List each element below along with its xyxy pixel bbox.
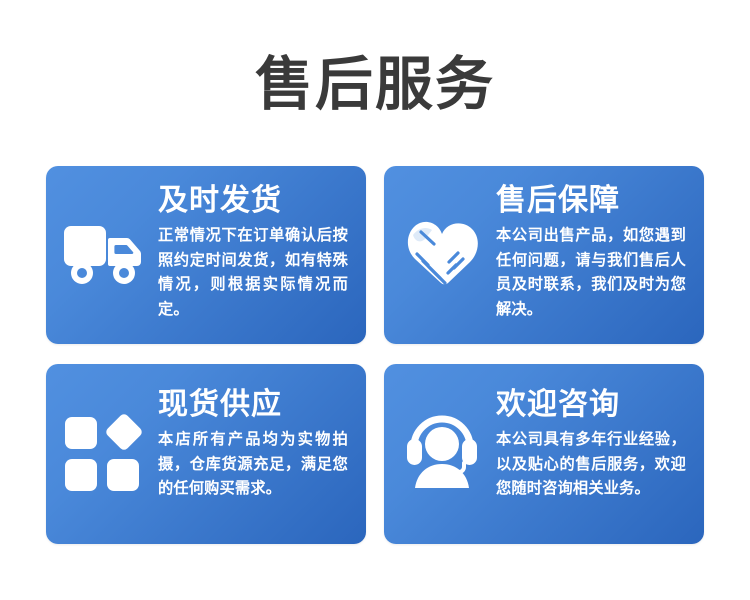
page-title: 售后服务: [0, 52, 750, 118]
card-title: 售后保障: [496, 182, 686, 220]
card-title: 及时发货: [158, 182, 348, 220]
service-card-after-sales-guarantee[interactable]: 售后保障 本公司出售产品，如您遇到任何问题，请与我们售后人员及时联系，我们及时为…: [384, 166, 704, 344]
card-description: 本店所有产品均为实物拍摄，仓库货源充足，满足您的任何购买需求。: [158, 428, 348, 502]
handshake-heart-icon: [401, 217, 483, 293]
card-icon-wrapper: [384, 166, 496, 344]
headset-support-icon: [402, 414, 482, 494]
service-card-timely-delivery[interactable]: 及时发货 正常情况下在订单确认后按照约定时间发货，如有特殊情况，则根据实际情况而…: [46, 166, 366, 344]
card-text-wrapper: 欢迎咨询 本公司具有多年行业经验，以及贴心的售后服务，欢迎您随时咨询相关业务。: [496, 364, 704, 502]
card-icon-wrapper: [46, 364, 158, 544]
card-title: 欢迎咨询: [496, 386, 686, 424]
card-text-wrapper: 售后保障 本公司出售产品，如您遇到任何问题，请与我们售后人员及时联系，我们及时为…: [496, 166, 704, 322]
card-description: 本公司出售产品，如您遇到任何问题，请与我们售后人员及时联系，我们及时为您解决。: [496, 224, 686, 322]
card-description: 本公司具有多年行业经验，以及贴心的售后服务，欢迎您随时咨询相关业务。: [496, 428, 686, 502]
delivery-truck-icon: [62, 220, 146, 290]
squares-diamond-icon: [64, 414, 144, 494]
card-text-wrapper: 及时发货 正常情况下在订单确认后按照约定时间发货，如有特殊情况，则根据实际情况而…: [158, 166, 366, 322]
card-icon-wrapper: [384, 364, 496, 544]
service-card-welcome-consultation[interactable]: 欢迎咨询 本公司具有多年行业经验，以及贴心的售后服务，欢迎您随时咨询相关业务。: [384, 364, 704, 544]
service-card-in-stock-supply[interactable]: 现货供应 本店所有产品均为实物拍摄，仓库货源充足，满足您的任何购买需求。: [46, 364, 366, 544]
card-description: 正常情况下在订单确认后按照约定时间发货，如有特殊情况，则根据实际情况而定。: [158, 224, 348, 322]
after-sales-service-page: 售后服务: [0, 0, 750, 600]
card-text-wrapper: 现货供应 本店所有产品均为实物拍摄，仓库货源充足，满足您的任何购买需求。: [158, 364, 366, 502]
card-icon-wrapper: [46, 166, 158, 344]
card-title: 现货供应: [158, 386, 348, 424]
service-cards-grid: 及时发货 正常情况下在订单确认后按照约定时间发货，如有特殊情况，则根据实际情况而…: [46, 166, 704, 544]
